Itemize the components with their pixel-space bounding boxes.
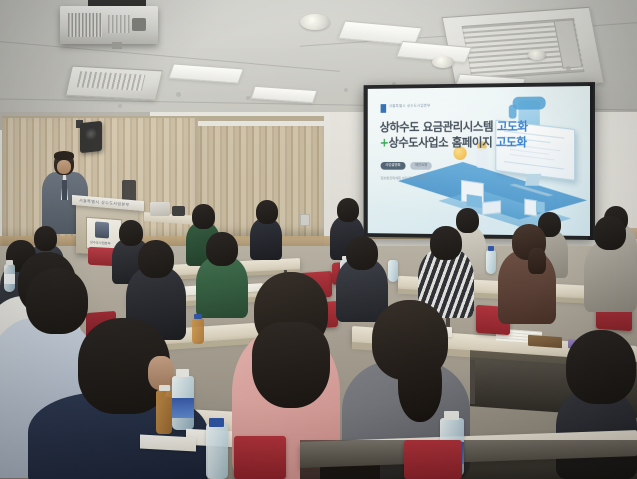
- slide-title-line-2: +상수도사업소 홈페이지 고도화: [380, 133, 527, 150]
- seminar-room-photo: 서울특별시 상수도사업본부 상하수도 요금관리시스템 고도화 +상수도사업소 홈…: [0, 0, 637, 479]
- sprinkler-head-icon: [344, 88, 348, 92]
- bottle-cap: [6, 260, 13, 265]
- water-bottle[interactable]: [206, 424, 228, 479]
- attendee-head: [566, 330, 636, 404]
- illustration-box: [536, 201, 545, 213]
- podium-emblem-icon: [95, 222, 109, 239]
- attendee-head: [119, 220, 143, 246]
- downlight: [528, 50, 546, 60]
- slide-logo-mark: [381, 104, 387, 113]
- attendee-head: [456, 208, 479, 233]
- attendee-body: [584, 240, 637, 312]
- presenter-hair: [54, 151, 74, 160]
- bottle-cap: [176, 369, 189, 377]
- sprinkler-head-icon: [176, 92, 181, 97]
- sprinkler-head-icon: [246, 96, 250, 100]
- paper-handout[interactable]: [140, 435, 196, 452]
- slide-badge-primary: 사업설명회: [381, 162, 406, 169]
- sprinkler-head-icon: [566, 66, 571, 71]
- attendee-head: [594, 216, 626, 250]
- projector-vent-icon: [108, 15, 130, 33]
- bottle-cap: [444, 411, 459, 420]
- wall-outlet-icon: [300, 214, 310, 226]
- equipment-box: [150, 202, 170, 216]
- notebook[interactable]: [528, 335, 562, 348]
- slide-title-2-plain: 상수도사업소 홈페이지: [389, 135, 496, 149]
- illustration-box: [482, 200, 501, 215]
- bottle-cap: [159, 385, 170, 391]
- attendee-head: [206, 232, 238, 266]
- attendee-head: [138, 240, 174, 278]
- slide-title-1-highlight: 고도화: [497, 119, 528, 133]
- slide-title-line-1: 상하수도 요금관리시스템 고도화: [380, 117, 528, 135]
- beverage-bottle[interactable]: [156, 390, 172, 434]
- monitor-stand-icon: [525, 174, 542, 186]
- laptop-device: [172, 206, 185, 216]
- slide-title-1-plain: 상하수도 요금관리시스템: [380, 120, 497, 134]
- attendee-head: [192, 204, 215, 229]
- presenter-face: [57, 160, 71, 174]
- projector-arm: [112, 42, 122, 49]
- ac-grill-icon: [77, 71, 146, 90]
- presenter-tie: [62, 180, 67, 200]
- water-bottle[interactable]: [486, 250, 496, 274]
- attendee-ponytail: [398, 350, 442, 422]
- attendee-body: [250, 218, 282, 260]
- slide-logo-text: 서울특별시 상수도사업본부: [389, 104, 431, 109]
- projector-vent-icon: [68, 13, 102, 37]
- slide-badge-secondary: 제안요청: [410, 162, 432, 169]
- chair[interactable]: [404, 440, 462, 479]
- table-leg: [470, 360, 475, 404]
- bottle-cap: [488, 246, 494, 251]
- illustration-box: [467, 194, 482, 208]
- downlight: [432, 56, 454, 68]
- faucet-spout-icon: [509, 105, 517, 119]
- water-bottle[interactable]: [388, 260, 398, 282]
- faucet-head-icon: [513, 97, 546, 110]
- projector-lens-icon: [132, 18, 146, 31]
- beverage-bottle[interactable]: [192, 318, 204, 344]
- slide-subtitle: 정보화전략계획 수립 및 시스템 구축: [381, 175, 428, 180]
- bottle-label: [4, 274, 15, 284]
- bottle-cap: [209, 418, 224, 427]
- sprinkler-head-icon: [118, 104, 122, 108]
- bottle-label: [172, 398, 194, 418]
- attendee-head: [430, 226, 462, 260]
- chair[interactable]: [234, 436, 286, 479]
- attendee-head: [26, 268, 88, 334]
- attendee-head: [34, 226, 57, 251]
- attendee-hair-tail: [528, 248, 546, 274]
- under-table-shadow: [300, 440, 637, 479]
- slide-title-2-highlight: 고도화: [496, 135, 527, 149]
- attendee-head: [346, 236, 378, 270]
- attendee-body: [498, 250, 556, 324]
- bottle-cap: [194, 314, 202, 319]
- attendee-head: [337, 198, 359, 222]
- downlight: [300, 14, 330, 30]
- figure-body-icon: [476, 148, 487, 168]
- attendee-head: [256, 200, 278, 224]
- slide-plus-sign: +: [380, 136, 389, 150]
- attendee-hair-long: [252, 322, 330, 408]
